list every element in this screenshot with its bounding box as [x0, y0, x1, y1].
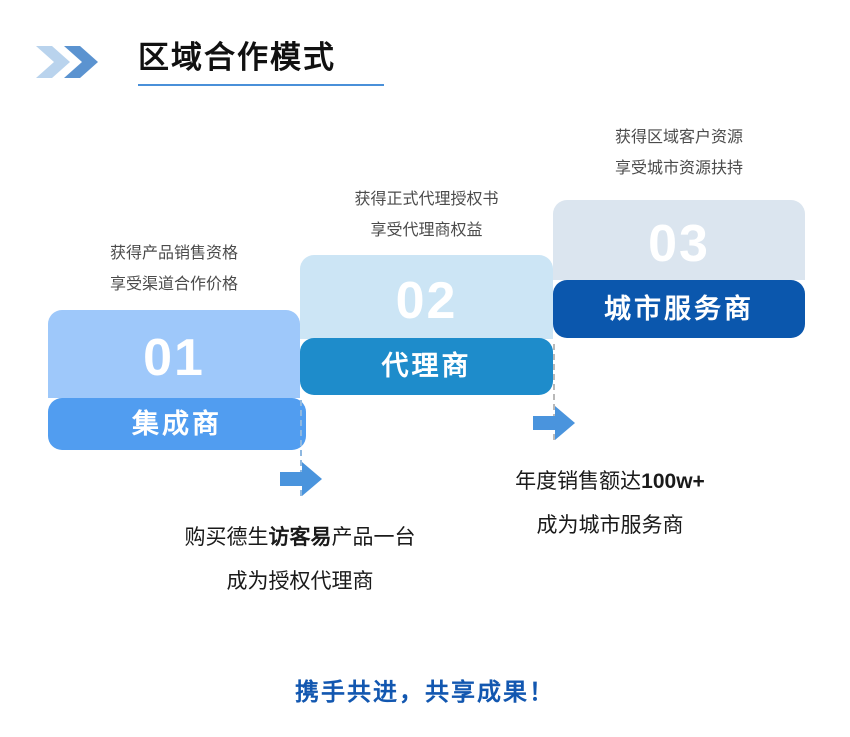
note-1-line-1-suffix: 产品一台: [332, 526, 416, 549]
note-1-line-1-highlight: 访客易: [269, 526, 332, 549]
note-2-line-1-prefix: 年度销售额达: [515, 470, 641, 493]
note-2: 年度销售额达100w+ 成为城市服务商: [450, 460, 770, 548]
note-1-line-1: 购买德生访客易产品一台: [140, 516, 460, 560]
step-card-01[interactable]: 获得产品销售资格 享受渠道合作价格 01 集成商: [48, 238, 300, 450]
step-01-caption-line2: 享受渠道合作价格: [48, 269, 300, 300]
step-03-caption-line1: 获得区域客户资源: [553, 122, 805, 153]
step-03-caption-line2: 享受城市资源扶持: [553, 153, 805, 184]
step-01-number: 01: [48, 332, 300, 384]
step-02-caption-line2: 享受代理商权益: [300, 215, 553, 246]
note-2-line-1-highlight: 100w+: [641, 470, 705, 493]
step-card-02[interactable]: 获得正式代理授权书 享受代理商权益 02 代理商: [300, 184, 553, 395]
note-2-line-1: 年度销售额达100w+: [450, 460, 770, 504]
step-01-name: 集成商: [48, 398, 306, 450]
step-01-caption-line1: 获得产品销售资格: [48, 238, 300, 269]
step-03-name-bar: 城市服务商: [553, 280, 805, 338]
step-03-number: 03: [553, 218, 805, 270]
step-01-name-bar: 集成商: [48, 398, 306, 450]
step-02-name-bar: 代理商: [300, 338, 553, 395]
page-title: 区域合作模式: [138, 36, 336, 80]
step-03-name: 城市服务商: [553, 280, 805, 338]
note-2-line-2: 成为城市服务商: [450, 504, 770, 548]
note-1-line-2: 成为授权代理商: [140, 560, 460, 604]
step-card-03[interactable]: 获得区域客户资源 享受城市资源扶持 03 城市服务商: [553, 122, 805, 338]
step-02-number: 02: [300, 275, 553, 327]
step-02-caption-line1: 获得正式代理授权书: [300, 184, 553, 215]
connector-arrow-2: [533, 406, 575, 440]
note-1: 购买德生访客易产品一台 成为授权代理商: [140, 516, 460, 604]
step-01-card-top: 01: [48, 310, 300, 398]
footer-slogan: 携手共进，共享成果！: [0, 672, 850, 707]
step-03-card-top: 03: [553, 200, 805, 280]
title-underline: [138, 84, 384, 86]
step-02-name: 代理商: [300, 338, 553, 395]
connector-arrow-1: [280, 462, 322, 496]
note-1-line-1-prefix: 购买德生: [185, 526, 269, 549]
page-header: 区域合作模式: [36, 36, 436, 88]
step-02-card-top: 02: [300, 255, 553, 339]
double-chevron-icon: [36, 44, 102, 80]
